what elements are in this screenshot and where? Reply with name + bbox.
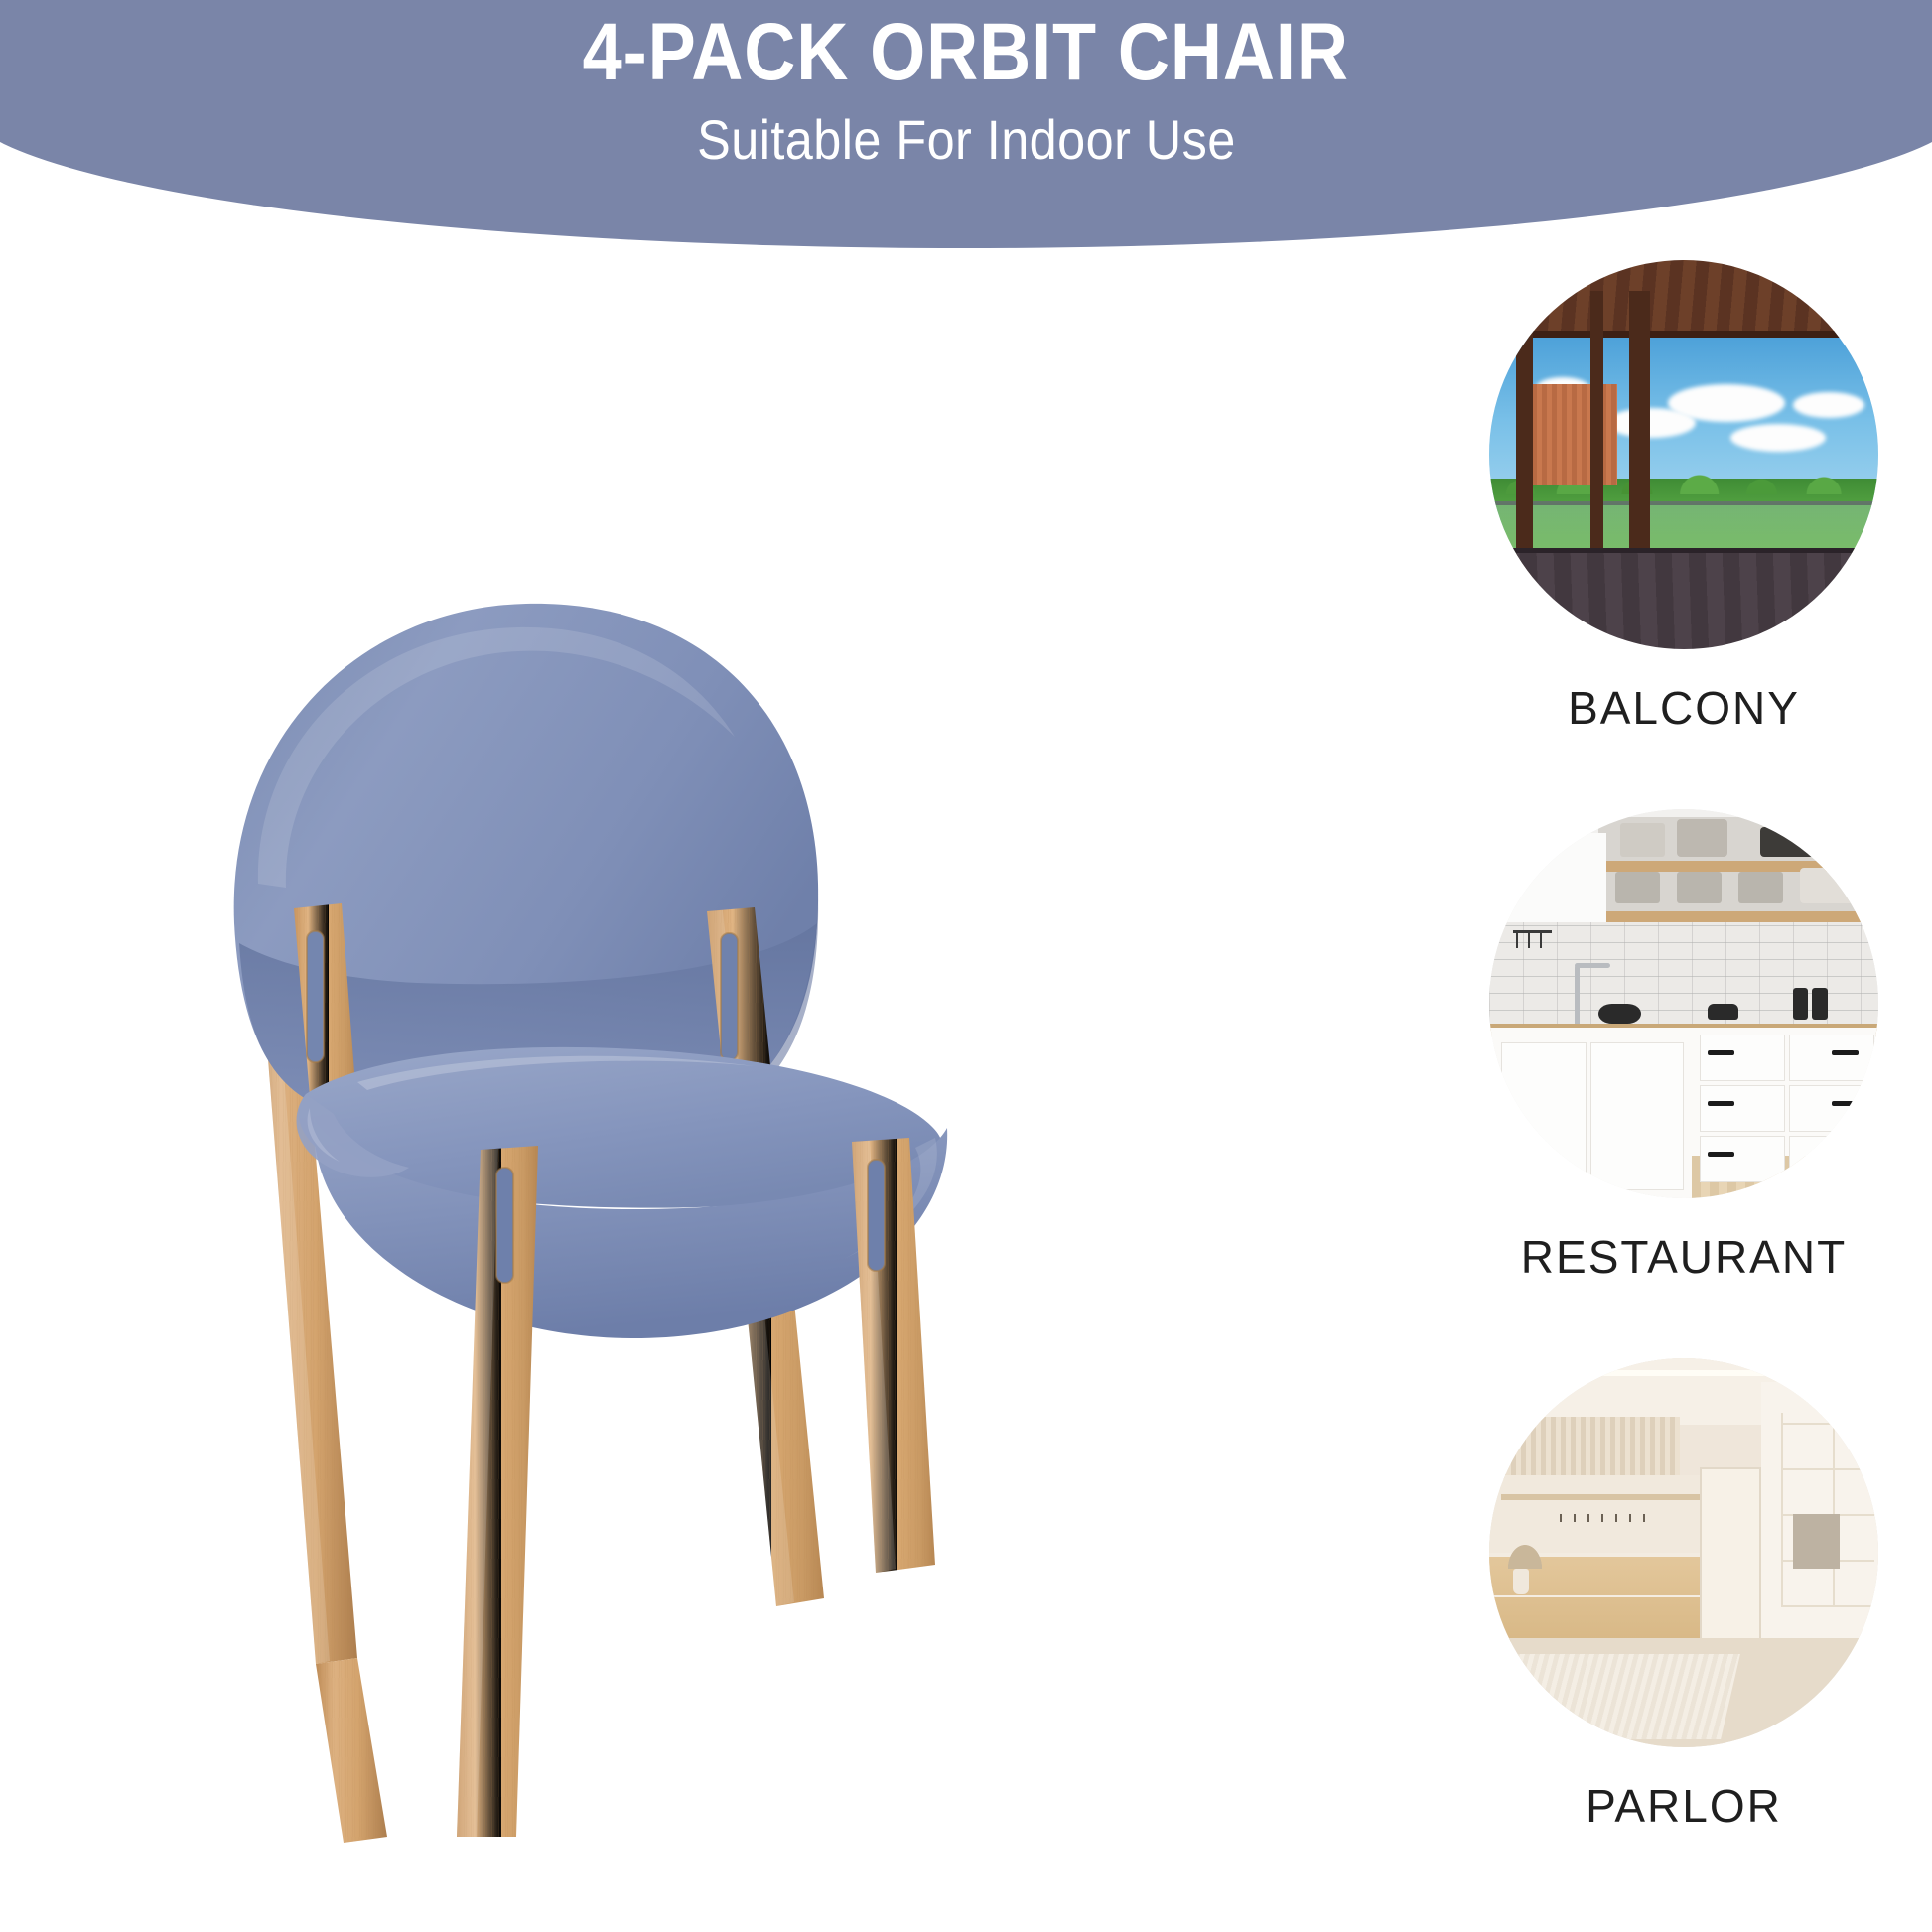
product-image-orbit-chair [60, 288, 1370, 1896]
chair-seat [297, 1047, 948, 1338]
restaurant-image [1489, 809, 1878, 1198]
scene-label-parlor: PARLOR [1586, 1779, 1782, 1833]
chair-leg-rear-left-lower [316, 1658, 387, 1843]
header-banner: 4-PACK ORBIT CHAIR Suitable For Indoor U… [0, 0, 1932, 248]
scene-parlor[interactable]: PARLOR [1455, 1358, 1912, 1907]
chair-illustration [60, 288, 1370, 1896]
parlor-image [1489, 1358, 1878, 1747]
balcony-image [1489, 260, 1878, 649]
page-title: 4-PACK ORBIT CHAIR [583, 10, 1349, 95]
scene-label-balcony: BALCONY [1568, 681, 1800, 735]
scene-restaurant[interactable]: RESTAURANT [1455, 809, 1912, 1358]
header-text-group: 4-PACK ORBIT CHAIR Suitable For Indoor U… [0, 0, 1932, 248]
page-subtitle: Suitable For Indoor Use [697, 107, 1236, 172]
scene-label-restaurant: RESTAURANT [1521, 1230, 1847, 1284]
usage-scenes-column: BALCONY [1455, 260, 1912, 1908]
scene-balcony[interactable]: BALCONY [1455, 260, 1912, 809]
